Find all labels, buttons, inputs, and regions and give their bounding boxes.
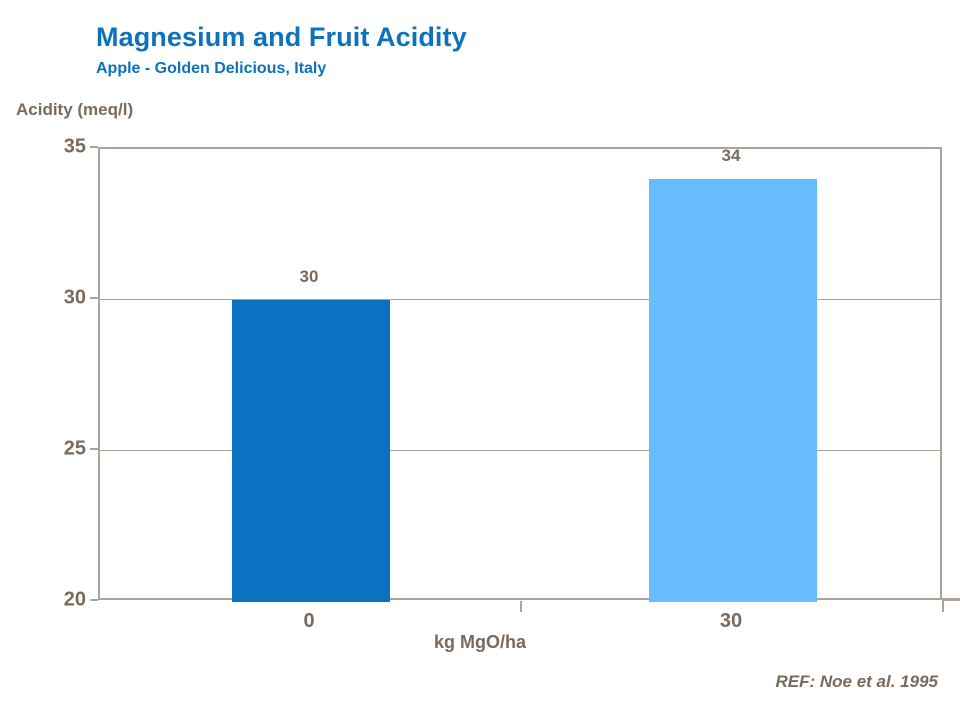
y-axis-tick-label: 20 (8, 589, 86, 612)
chart-title: Magnesium and Fruit Acidity (96, 22, 467, 53)
y-axis-title: Acidity (meq/l) (16, 100, 133, 120)
y-axis-tick-label: 35 (8, 136, 86, 159)
x-axis-tick-mark-end (942, 601, 944, 612)
chart-subtitle: Apple - Golden Delicious, Italy (96, 60, 326, 78)
y-axis-tick-mark (90, 146, 98, 148)
bar[interactable] (649, 179, 817, 602)
x-axis-tick-label: 30 (671, 610, 791, 633)
plot-area (98, 147, 942, 600)
x-axis-tick-label: 0 (249, 610, 369, 633)
x-axis-title: kg MgO/ha (0, 632, 960, 653)
x-axis-tick-mark-middle (520, 601, 522, 612)
y-axis-tick-label: 30 (8, 287, 86, 310)
bar[interactable] (232, 300, 390, 602)
reference-note: REF: Noe et al. 1995 (775, 672, 938, 692)
bar-value-label: 30 (249, 267, 369, 287)
x-axis-overhang (942, 598, 960, 601)
bar-value-label: 34 (671, 146, 791, 166)
y-axis-tick-mark (90, 297, 98, 299)
y-axis-tick-label: 25 (8, 438, 86, 461)
y-axis-tick-mark (90, 599, 98, 601)
y-axis-tick-mark (90, 448, 98, 450)
